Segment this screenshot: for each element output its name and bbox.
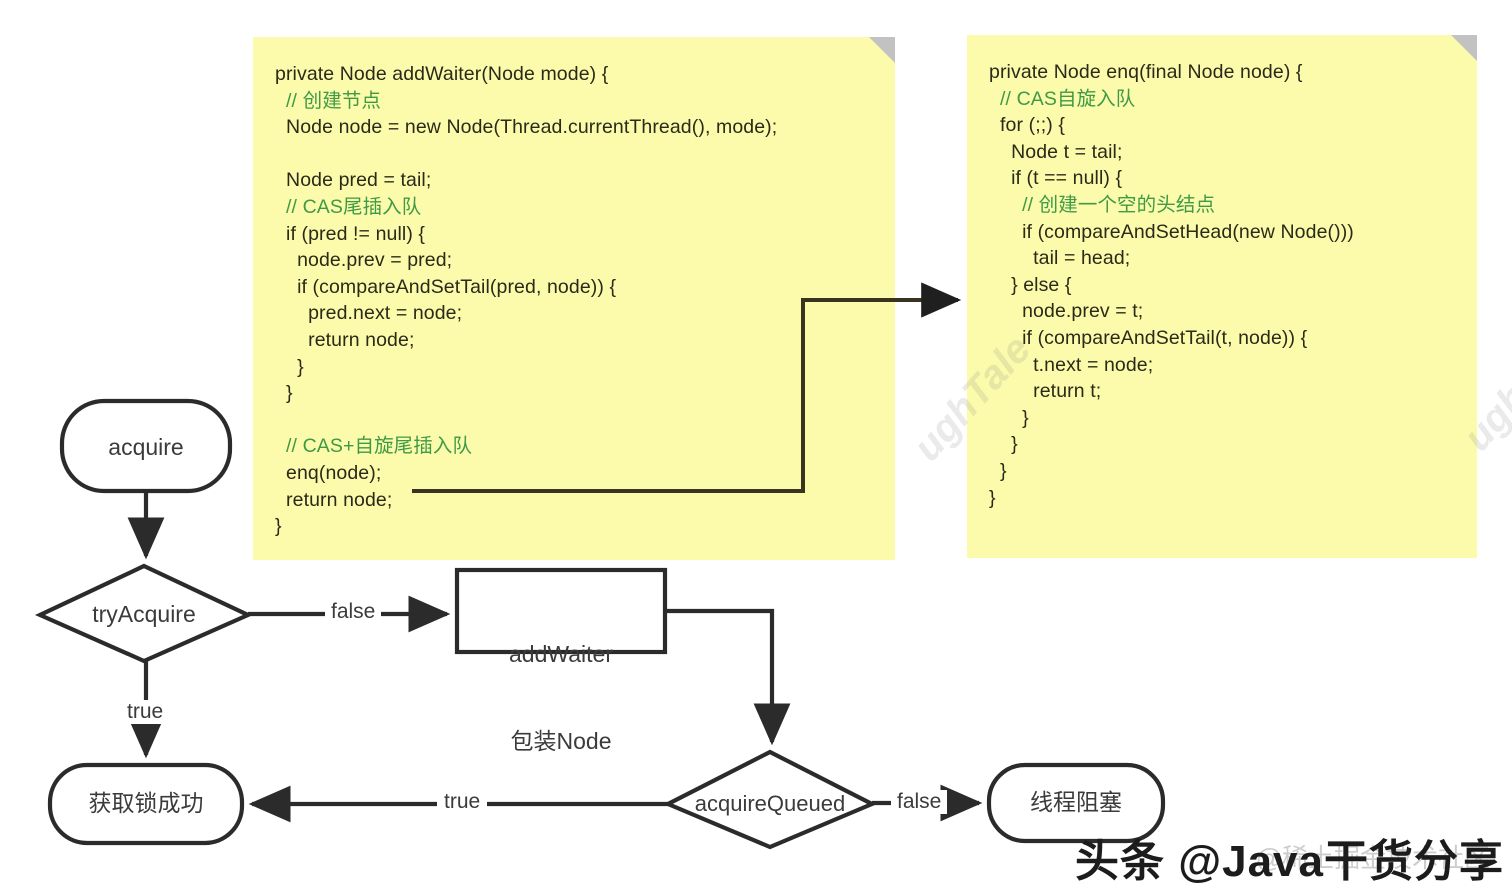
code-line: }: [275, 380, 777, 407]
code-line: node.prev = t;: [989, 298, 1354, 325]
code-line: private Node addWaiter(Node mode) {: [275, 61, 777, 88]
node-addwaiter[interactable]: [457, 570, 665, 652]
code-line: return t;: [989, 378, 1354, 405]
code-line: node.prev = pred;: [275, 247, 777, 274]
code-line: pred.next = node;: [275, 300, 777, 327]
note-fold-corner-icon: [1451, 35, 1477, 61]
code-line: Node node = new Node(Thread.currentThrea…: [275, 114, 777, 141]
node-acquire[interactable]: [62, 401, 230, 491]
code-line: Node pred = tail;: [275, 167, 777, 194]
note-fold-corner-icon: [869, 37, 895, 63]
code-block-addwaiter: private Node addWaiter(Node mode) { // 创…: [275, 61, 777, 540]
code-line: // CAS+自旋尾插入队: [275, 433, 777, 460]
code-line: private Node enq(final Node node) {: [989, 59, 1354, 86]
code-block-enq: private Node enq(final Node node) { // C…: [989, 59, 1354, 511]
code-line: if (pred != null) {: [275, 221, 777, 248]
sticky-note-enq: private Node enq(final Node node) { // C…: [967, 35, 1477, 558]
code-line: return node;: [275, 327, 777, 354]
code-line: }: [989, 485, 1354, 512]
code-line: t.next = node;: [989, 352, 1354, 379]
code-line: for (;;) {: [989, 112, 1354, 139]
code-line: } else {: [989, 272, 1354, 299]
code-line: // 创建一个空的头结点: [989, 192, 1354, 219]
code-line: return node;: [275, 487, 777, 514]
code-line: // 创建节点: [275, 88, 777, 115]
code-line: if (t == null) {: [989, 165, 1354, 192]
node-acquirequeued[interactable]: [668, 752, 872, 847]
edge-label-acquirequeued-false: false: [891, 790, 947, 814]
sticky-note-addwaiter: private Node addWaiter(Node mode) { // 创…: [253, 37, 895, 560]
code-line: Node t = tail;: [989, 139, 1354, 166]
watermark-title: 头条 @Java干货分享: [1075, 825, 1504, 889]
code-line: [275, 407, 777, 434]
code-line: if (compareAndSetTail(t, node)) {: [989, 325, 1354, 352]
code-line: }: [989, 458, 1354, 485]
code-line: }: [989, 431, 1354, 458]
node-tryacquire[interactable]: [40, 566, 248, 661]
code-line: }: [275, 513, 777, 540]
code-line: if (compareAndSetHead(new Node())): [989, 219, 1354, 246]
edge-addwaiter-to-acquirequeued: [665, 611, 772, 742]
edge-label-tryacquire-false: false: [325, 600, 381, 624]
code-line: [275, 141, 777, 168]
code-line: tail = head;: [989, 245, 1354, 272]
code-line: if (compareAndSetTail(pred, node)) {: [275, 274, 777, 301]
node-lock-success[interactable]: [50, 765, 242, 843]
code-line: // CAS自旋入队: [989, 86, 1354, 113]
code-line: enq(node);: [275, 460, 777, 487]
edge-label-acquirequeued-true: true: [437, 790, 487, 814]
code-line: }: [275, 354, 777, 381]
edge-label-tryacquire-true: true: [122, 700, 168, 724]
code-line: // CAS尾插入队: [275, 194, 777, 221]
code-line: }: [989, 405, 1354, 432]
